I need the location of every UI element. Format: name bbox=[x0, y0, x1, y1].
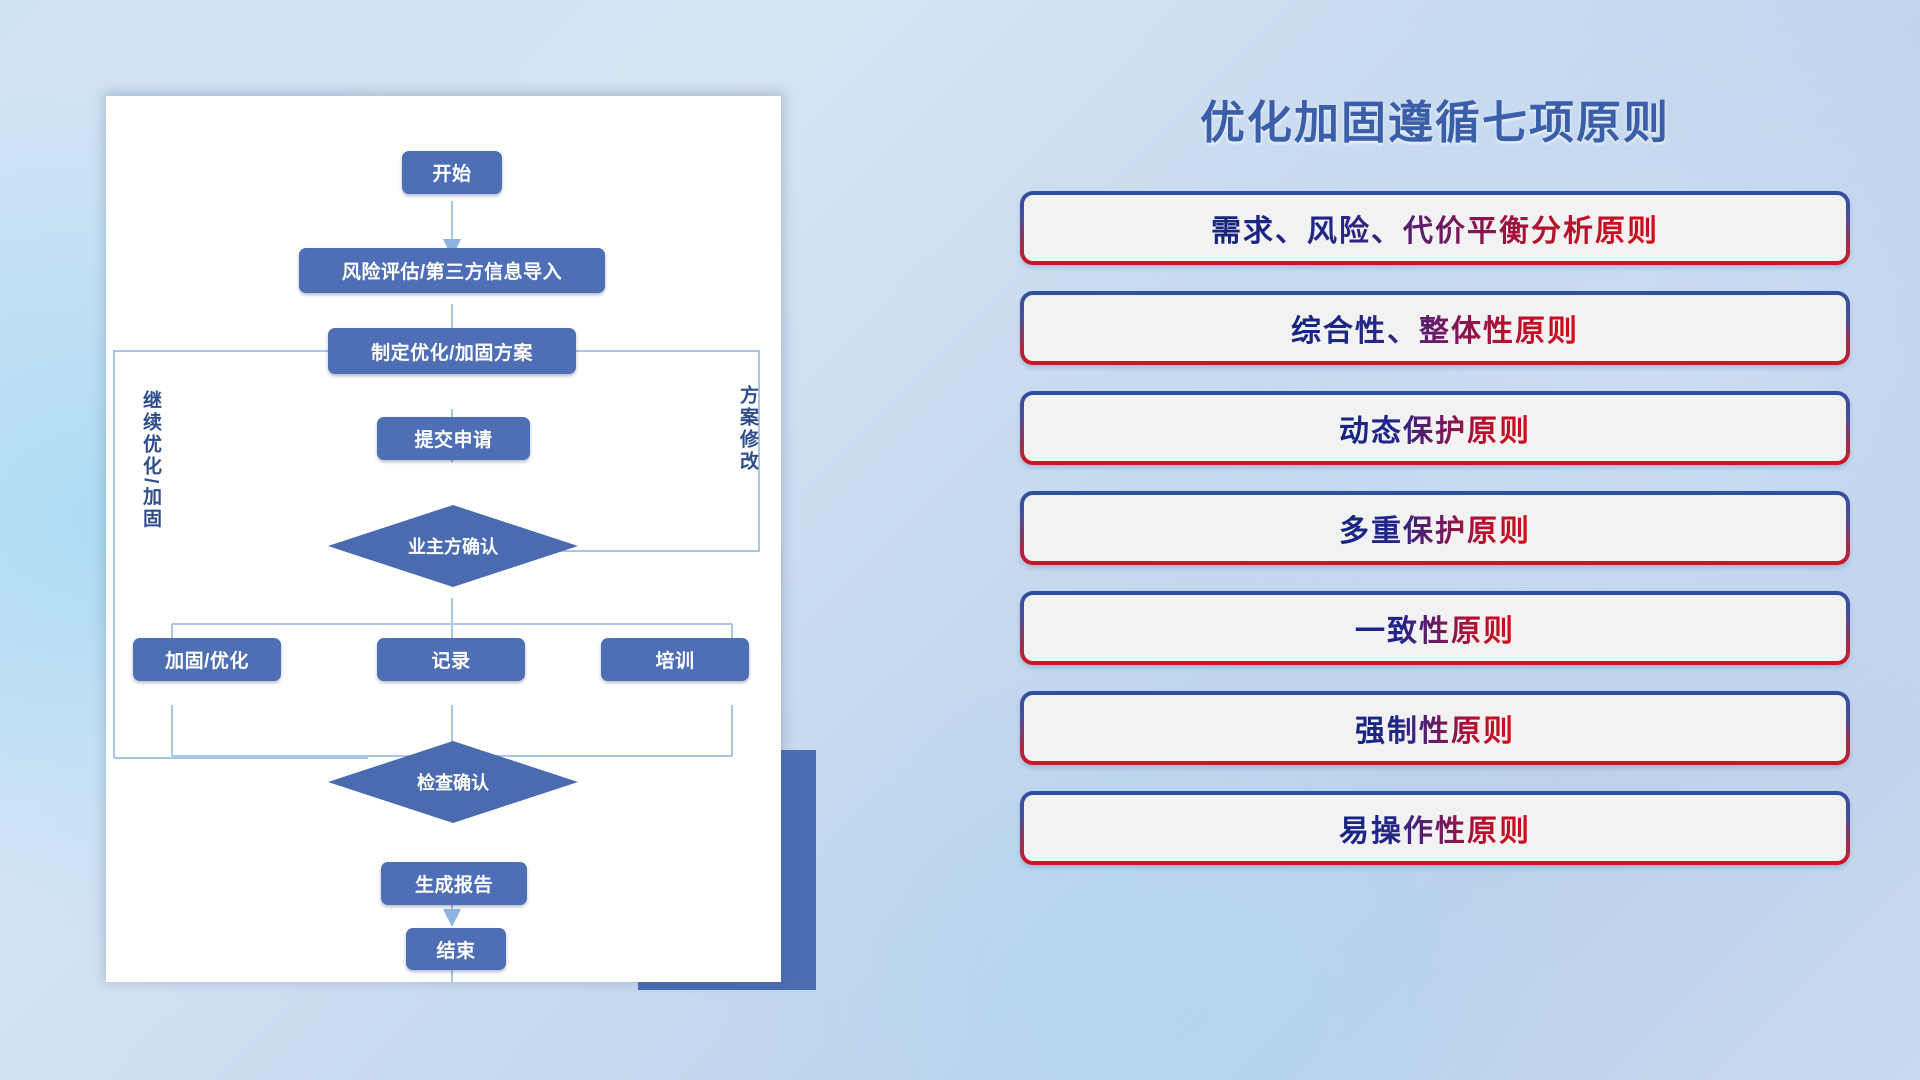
principle-label: 一致性原则 bbox=[1355, 606, 1515, 650]
flow-node-training[interactable]: 培训 bbox=[601, 638, 749, 681]
principle-item-7[interactable]: 易操作性原则 bbox=[1020, 791, 1850, 865]
principle-item-3[interactable]: 动态保护原则 bbox=[1020, 391, 1850, 465]
flow-node-end[interactable]: 结束 bbox=[406, 928, 506, 970]
flow-node-risk-assessment[interactable]: 风险评估/第三方信息导入 bbox=[299, 248, 605, 293]
principle-label: 易操作性原则 bbox=[1339, 806, 1531, 850]
edge-label-continue-optimize: 继续优化/加固 bbox=[140, 390, 160, 550]
principle-label: 多重保护原则 bbox=[1339, 506, 1531, 550]
principle-label: 需求、风险、代价平衡分析原则 bbox=[1211, 206, 1659, 250]
principle-item-1[interactable]: 需求、风险、代价平衡分析原则 bbox=[1020, 191, 1850, 265]
flow-node-submit[interactable]: 提交申请 bbox=[377, 417, 530, 460]
principle-item-2[interactable]: 综合性、整体性原则 bbox=[1020, 291, 1850, 365]
principle-item-6[interactable]: 强制性原则 bbox=[1020, 691, 1850, 765]
principle-label: 动态保护原则 bbox=[1339, 406, 1531, 450]
principle-label: 综合性、整体性原则 bbox=[1291, 306, 1579, 350]
principle-label: 强制性原则 bbox=[1355, 706, 1515, 750]
panel-title: 优化加固遵循七项原则 bbox=[1020, 86, 1850, 151]
flow-node-plan[interactable]: 制定优化/加固方案 bbox=[328, 328, 576, 374]
flow-node-start[interactable]: 开始 bbox=[402, 151, 502, 194]
flow-node-generate-report[interactable]: 生成报告 bbox=[381, 862, 527, 905]
slide-stage: 开始 风险评估/第三方信息导入 制定优化/加固方案 提交申请 业主方确认 加固/… bbox=[0, 0, 1920, 1080]
flow-node-record[interactable]: 记录 bbox=[377, 638, 525, 681]
principle-item-5[interactable]: 一致性原则 bbox=[1020, 591, 1850, 665]
flow-node-reinforce[interactable]: 加固/优化 bbox=[133, 638, 281, 681]
edge-label-plan-revision: 方案修改 bbox=[737, 385, 757, 497]
principles-panel: 优化加固遵循七项原则 需求、风险、代价平衡分析原则 综合性、整体性原则 动态保护… bbox=[1020, 86, 1850, 891]
principle-item-4[interactable]: 多重保护原则 bbox=[1020, 491, 1850, 565]
